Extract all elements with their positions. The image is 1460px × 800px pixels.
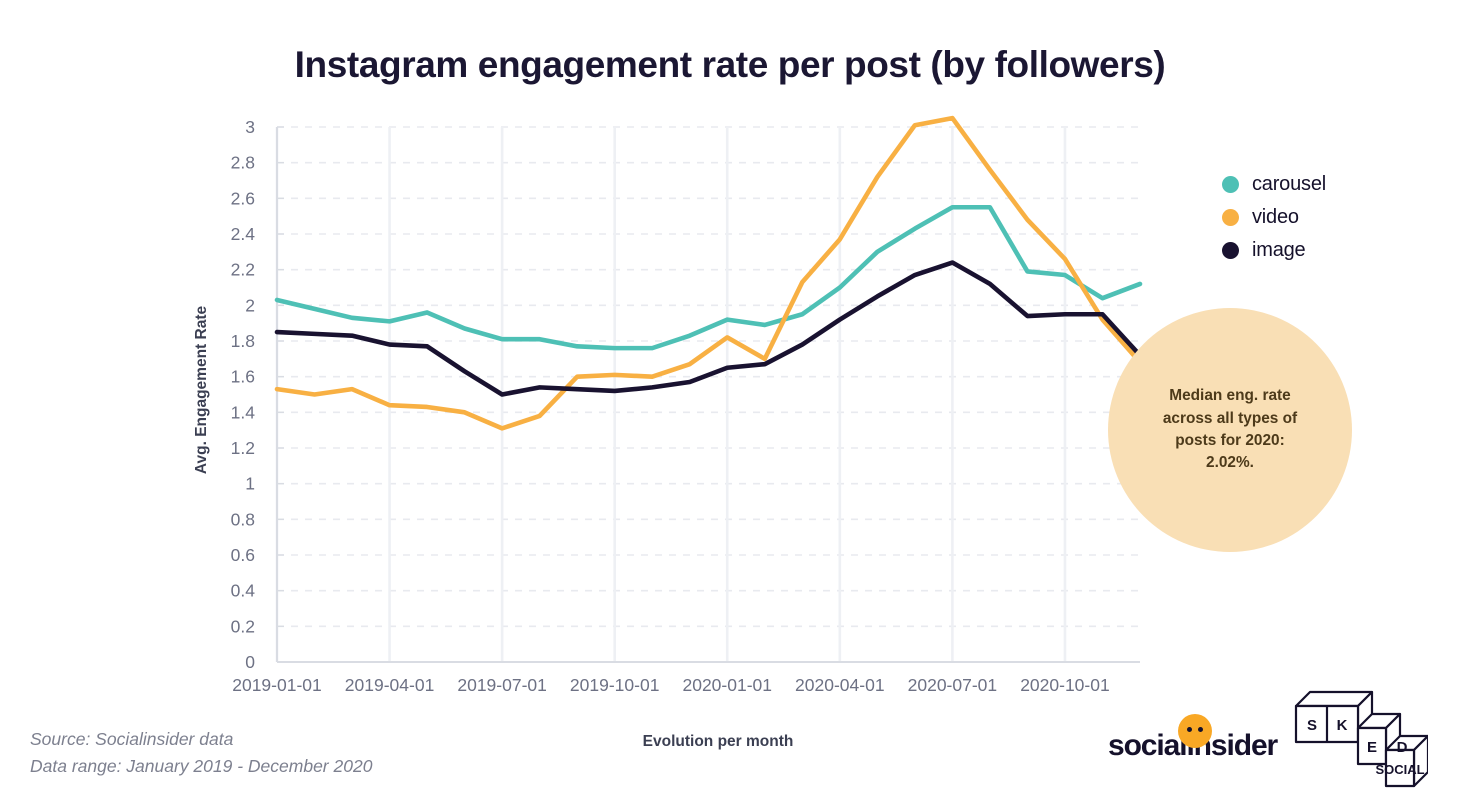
y-tick-label: 2.8	[231, 153, 255, 173]
legend-label-carousel: carousel	[1252, 173, 1326, 196]
x-tick-label: 2019-10-01	[570, 675, 660, 695]
grid-lines	[277, 127, 1140, 662]
legend-color-swatch-image	[1222, 242, 1239, 259]
smiley-face-icon	[1178, 714, 1212, 748]
legend-item-video[interactable]: video	[1222, 201, 1326, 234]
x-tick-label: 2020-10-01	[1020, 675, 1110, 695]
y-tick-label: 1.8	[231, 331, 255, 351]
source-note: Source: Socialinsider data Data range: J…	[30, 726, 372, 780]
sked-block-letter-d: D	[1397, 739, 1408, 756]
annotation-bubble: Median eng. rate across all types of pos…	[1108, 308, 1352, 552]
sked-block-letter-k: K	[1337, 717, 1348, 734]
y-tick-label: 1.6	[231, 367, 255, 387]
legend-item-carousel[interactable]: carousel	[1222, 168, 1326, 201]
sked-social-logo: S K E D SOCIAL	[1288, 678, 1428, 788]
y-tick-label: 3	[245, 117, 255, 137]
x-tick-label: 2019-07-01	[457, 675, 547, 695]
x-tick-label: 2020-04-01	[795, 675, 885, 695]
legend-item-image[interactable]: image	[1222, 234, 1326, 267]
x-tick-label: 2019-01-01	[232, 675, 322, 695]
y-tick-label: 0.6	[231, 545, 255, 565]
x-tick-label: 2020-01-01	[682, 675, 772, 695]
series-line-carousel	[277, 207, 1140, 348]
y-tick-label: 2.6	[231, 188, 255, 208]
series-line-video	[277, 118, 1140, 428]
x-tick-label: 2020-07-01	[908, 675, 998, 695]
y-tick-label: 0.4	[231, 581, 256, 601]
axis-lines	[277, 127, 1140, 662]
sked-block-letter-e: E	[1367, 739, 1377, 756]
annotation-text: Median eng. rate across all types of pos…	[1137, 385, 1323, 474]
legend-label-video: video	[1252, 206, 1299, 229]
y-tick-label: 2.2	[231, 260, 255, 280]
y-tick-label: 1	[245, 474, 255, 494]
y-tick-label: 1.4	[231, 402, 256, 422]
y-tick-label: 0	[245, 652, 255, 672]
y-tick-label: 2.4	[231, 224, 256, 244]
chart-legend: carousel video image	[1222, 168, 1326, 267]
socialinsider-logo: socialinsider	[1108, 727, 1277, 765]
y-tick-label: 2	[245, 295, 255, 315]
x-tick-label: 2019-04-01	[345, 675, 435, 695]
legend-color-swatch-carousel	[1222, 176, 1239, 193]
x-axis-title: Evolution per month	[643, 733, 794, 750]
y-axis-title: Avg. Engagement Rate	[193, 306, 210, 475]
chart-page: Instagram engagement rate per post (by f…	[0, 0, 1460, 800]
x-axis-tick-labels: 2019-01-012019-04-012019-07-012019-10-01…	[232, 675, 1109, 695]
y-tick-label: 0.8	[231, 509, 255, 529]
data-series-layer	[277, 118, 1140, 428]
y-tick-label: 1.2	[231, 438, 255, 458]
legend-color-swatch-video	[1222, 209, 1239, 226]
legend-label-image: image	[1252, 239, 1305, 262]
y-tick-label: 0.2	[231, 616, 255, 636]
sked-wordmark: SOCIAL	[1375, 762, 1424, 777]
sked-block-letter-s: S	[1307, 717, 1317, 734]
